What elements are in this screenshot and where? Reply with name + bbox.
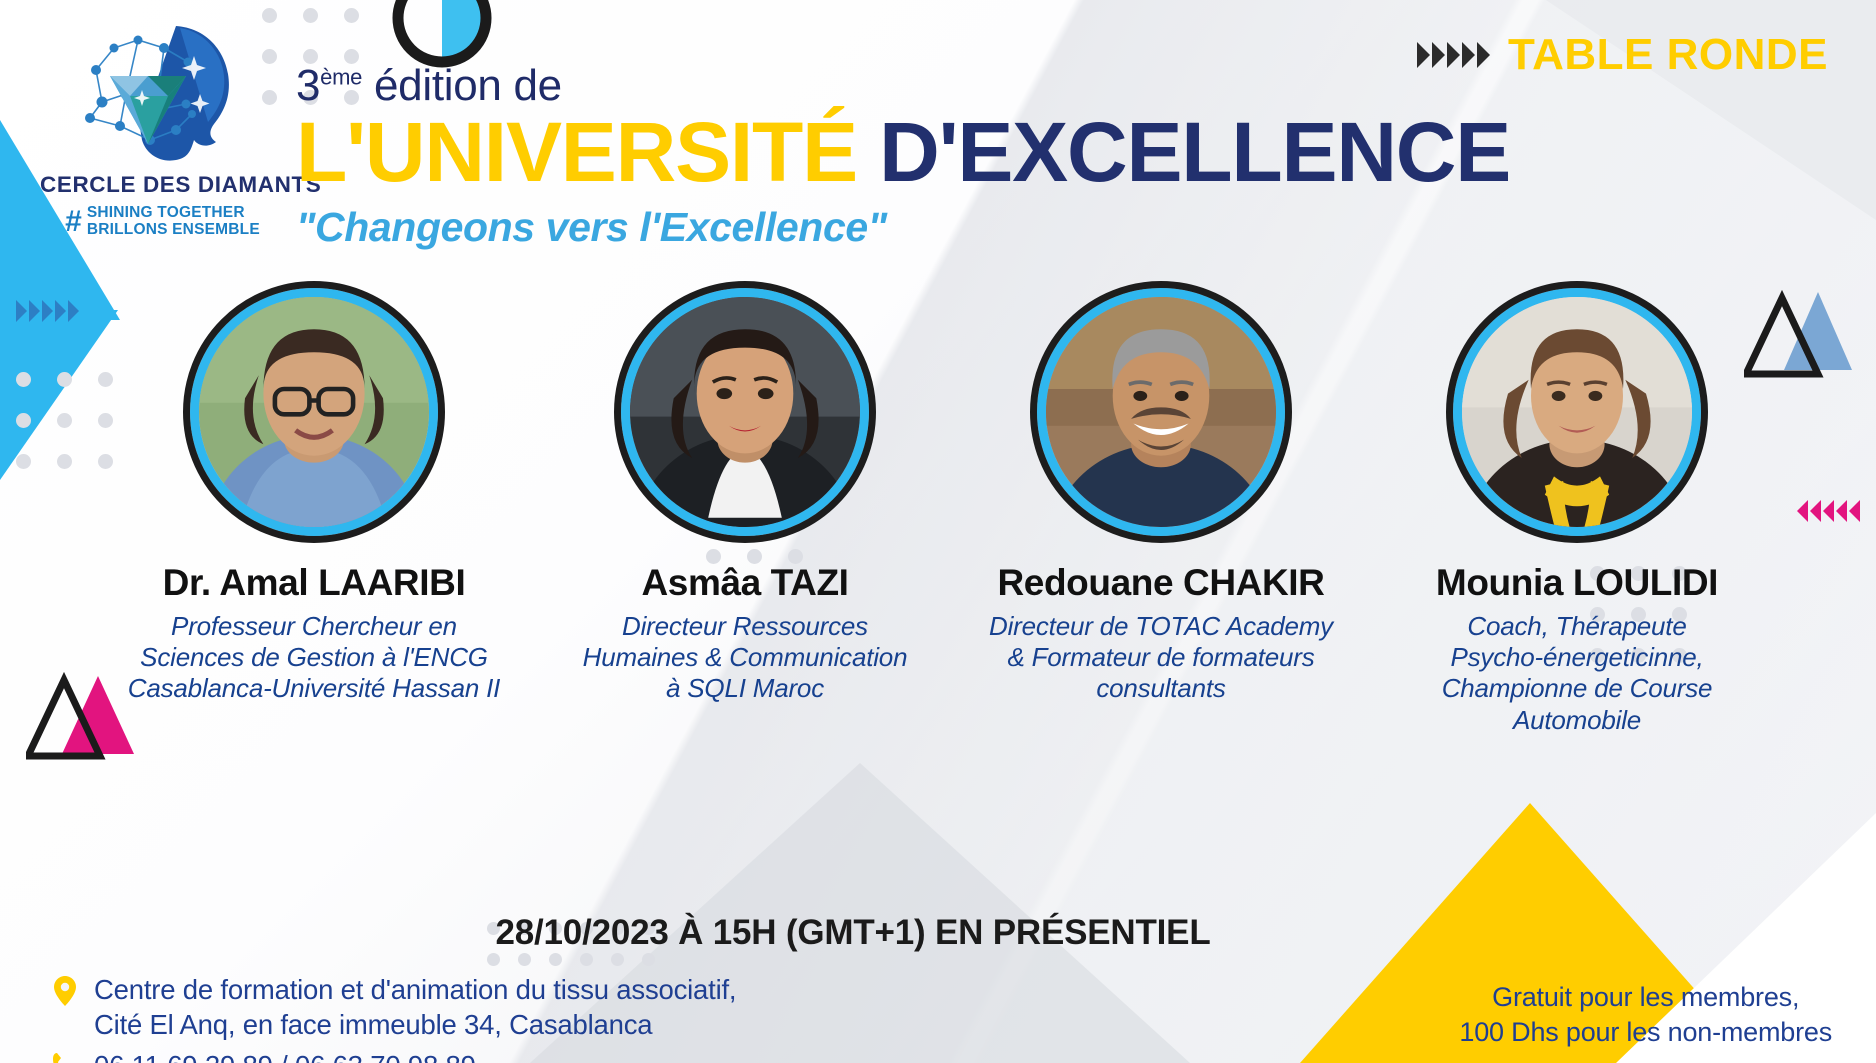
- speaker-name: Mounia LOULIDI: [1377, 562, 1777, 604]
- event-tagline: "Changeons vers l'Excellence": [296, 204, 1616, 251]
- map-pin-icon: [52, 972, 78, 1006]
- avatar: [1037, 288, 1285, 536]
- speaker-card: Asmâa TAZI Directeur Ressources Humaines…: [545, 288, 945, 736]
- edition-suffix: édition de: [362, 61, 562, 110]
- edition-number: 3: [296, 61, 320, 110]
- event-datetime: 28/10/2023 À 15H (GMT+1) EN PRÉSENTIEL: [495, 913, 1210, 953]
- avatar: [1453, 288, 1701, 536]
- diamond-head-logo-icon: [68, 18, 258, 168]
- speakers-row: Dr. Amal LAARIBI Professeur Chercheur en…: [0, 288, 1876, 736]
- hashtag-icon: #: [65, 209, 82, 235]
- logo-brand-name: CERCLE DES DIAMANTS: [40, 172, 285, 198]
- speaker-role: Professeur Chercheur en Sciences de Gest…: [99, 611, 529, 705]
- poster-canvas: CERCLE DES DIAMANTS # SHINING TOGETHER B…: [0, 0, 1876, 1063]
- speaker-name: Asmâa TAZI: [545, 562, 945, 604]
- title-part-excellence: D'EXCELLENCE: [879, 105, 1510, 199]
- speaker-card: Dr. Amal LAARIBI Professeur Chercheur en…: [99, 288, 529, 736]
- edition-line: 3ème édition de: [296, 64, 1616, 108]
- contact-phone-row[interactable]: 06 11 69 29 89 / 06 63 70 98 89: [52, 1048, 736, 1063]
- address-line-1: Centre de formation et d'animation du ti…: [94, 972, 736, 1007]
- logo-tagline-en: SHINING TOGETHER: [87, 204, 260, 221]
- contact-address-row: Centre de formation et d'animation du ti…: [52, 972, 736, 1042]
- phone-numbers: 06 11 69 29 89 / 06 63 70 98 89: [94, 1048, 476, 1063]
- avatar: [621, 288, 869, 536]
- contact-block: Centre de formation et d'animation du ti…: [52, 972, 736, 1063]
- pricing-note: Gratuit pour les membres, 100 Dhs pour l…: [1459, 980, 1832, 1050]
- speaker-role: Coach, Thérapeute Psycho-énergeticinne, …: [1377, 611, 1777, 736]
- pricing-line-2: 100 Dhs pour les non-membres: [1459, 1015, 1832, 1050]
- speaker-name: Dr. Amal LAARIBI: [99, 562, 529, 604]
- speaker-card: Redouane CHAKIR Directeur de TOTAC Acade…: [961, 288, 1361, 736]
- speaker-role: Directeur Ressources Humaines & Communic…: [545, 611, 945, 705]
- pricing-line-1: Gratuit pour les membres,: [1459, 980, 1832, 1015]
- logo-tagline-fr: BRILLONS ENSEMBLE: [87, 221, 260, 238]
- page-title: L'UNIVERSITÉ D'EXCELLENCE: [296, 110, 1616, 196]
- logo-hashtag-block: # SHINING TOGETHER BRILLONS ENSEMBLE: [40, 204, 285, 239]
- speaker-name: Redouane CHAKIR: [961, 562, 1361, 604]
- address-line-2: Cité El Anq, en face immeuble 34, Casabl…: [94, 1007, 736, 1042]
- event-datetime-row: 28/10/2023 À 15H (GMT+1) EN PRÉSENTIEL: [0, 913, 1876, 953]
- speaker-card: Mounia LOULIDI Coach, Thérapeute Psycho-…: [1377, 288, 1777, 736]
- phone-icon: [52, 1048, 78, 1063]
- speaker-role: Directeur de TOTAC Academy & Formateur d…: [961, 611, 1361, 705]
- edition-ordinal: ème: [320, 64, 362, 89]
- title-part-universite: L'UNIVERSITÉ: [296, 105, 857, 199]
- event-header: 3ème édition de L'UNIVERSITÉ D'EXCELLENC…: [296, 64, 1616, 251]
- avatar: [190, 288, 438, 536]
- brand-logo: CERCLE DES DIAMANTS # SHINING TOGETHER B…: [40, 18, 285, 239]
